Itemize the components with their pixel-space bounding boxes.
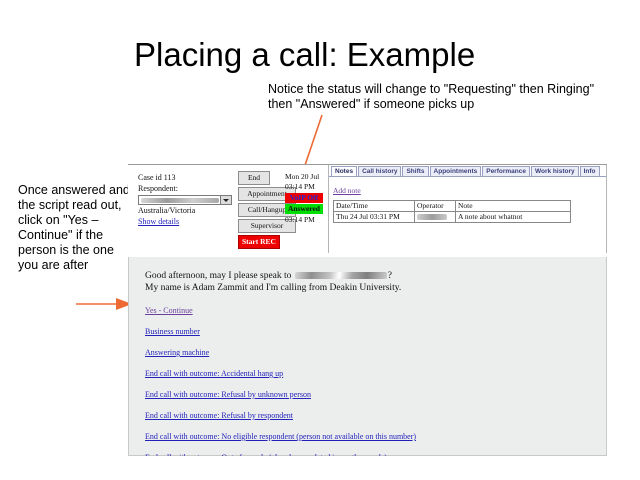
link-outcome-accidental-hang-up[interactable]: End call with outcome: Accidental hang u… [145, 369, 590, 379]
table-row[interactable]: Thu 24 Jul 03:31 PM A note about whatnot [334, 212, 571, 223]
tabs-and-notes-panel: Notes Call history Shifts Appointments P… [329, 165, 606, 253]
link-business-number[interactable]: Business number [145, 327, 590, 337]
page-title: Placing a call: Example [134, 36, 475, 74]
tab-notes[interactable]: Notes [331, 166, 357, 176]
link-outcome-out-of-sample[interactable]: End call with outcome: Out of sample (al… [145, 453, 590, 456]
notes-table: Date/Time Operator Note Thu 24 Jul 03:31… [333, 200, 571, 223]
redacted-respondent-name [295, 272, 387, 279]
script-panel: Good afternoon, may I please speak to ? … [128, 257, 607, 456]
start-rec-button[interactable]: Start REC [238, 235, 280, 249]
column-header-datetime: Date/Time [334, 201, 415, 212]
script-text: Good afternoon, may I please speak to ? … [145, 270, 590, 294]
tab-shifts[interactable]: Shifts [402, 166, 428, 176]
tab-performance[interactable]: Performance [482, 166, 530, 176]
status-time-bottom: 03:14 PM [285, 215, 325, 225]
annotation-yes-continue: Once answered and the script read out, c… [18, 183, 130, 273]
voip-status-badge: VoIP Off [285, 193, 323, 203]
case-info-block: Case id 113 Respondent: Australia/Victor… [138, 173, 236, 227]
case-id-label: Case id 113 [138, 173, 236, 183]
script-line-1-prefix: Good afternoon, may I please speak to [145, 271, 294, 281]
case-locale: Australia/Victoria [138, 206, 236, 216]
annotation-status-change: Notice the status will change to "Reques… [268, 82, 608, 112]
call-status-block: Mon 20 Jul 03:14 PM VoIP Off Answered 03… [285, 172, 325, 225]
notes-area: Add note Date/Time Operator Note Thu 24 … [329, 177, 606, 223]
link-yes-continue[interactable]: Yes - Continue [145, 306, 590, 316]
link-outcome-no-eligible-respondent[interactable]: End call with outcome: No eligible respo… [145, 432, 590, 442]
tab-info[interactable]: Info [580, 166, 600, 176]
link-outcome-refusal-by-respondent[interactable]: End call with outcome: Refusal by respon… [145, 411, 590, 421]
script-line-1: Good afternoon, may I please speak to ? [145, 270, 590, 282]
link-answering-machine[interactable]: Answering machine [145, 348, 590, 358]
tab-call-history[interactable]: Call history [358, 166, 401, 176]
cell-operator [415, 212, 456, 223]
call-state-badge: Answered [285, 204, 323, 214]
link-outcome-refusal-unknown-person[interactable]: End call with outcome: Refusal by unknow… [145, 390, 590, 400]
tab-bar: Notes Call history Shifts Appointments P… [329, 165, 606, 177]
app-top-bar: Case id 113 Respondent: Australia/Victor… [128, 165, 607, 253]
redacted-respondent-value [141, 198, 219, 203]
column-header-note: Note [456, 201, 571, 212]
table-header-row: Date/Time Operator Note [334, 201, 571, 212]
tab-work-history[interactable]: Work history [531, 166, 579, 176]
status-date: Mon 20 Jul [285, 172, 325, 182]
cell-datetime: Thu 24 Jul 03:31 PM [334, 212, 415, 223]
tab-appointments[interactable]: Appointments [430, 166, 482, 176]
chevron-down-icon[interactable] [220, 196, 231, 204]
respondent-select[interactable] [138, 195, 232, 205]
end-button[interactable]: End [238, 171, 270, 185]
panel-divider-right [606, 165, 607, 253]
script-line-2: My name is Adam Zammit and I'm calling f… [145, 282, 590, 294]
script-line-1-suffix: ? [388, 271, 392, 281]
status-time-top: 03:14 PM [285, 182, 325, 192]
script-outcome-links: Yes - Continue Business number Answering… [145, 306, 590, 456]
cell-note: A note about whatnot [456, 212, 571, 223]
respondent-label: Respondent: [138, 184, 236, 194]
redacted-operator-value [417, 214, 447, 220]
show-details-link[interactable]: Show details [138, 217, 179, 227]
add-note-link[interactable]: Add note [333, 186, 361, 195]
column-header-operator: Operator [415, 201, 456, 212]
embedded-app-screenshot: Case id 113 Respondent: Australia/Victor… [128, 164, 607, 456]
